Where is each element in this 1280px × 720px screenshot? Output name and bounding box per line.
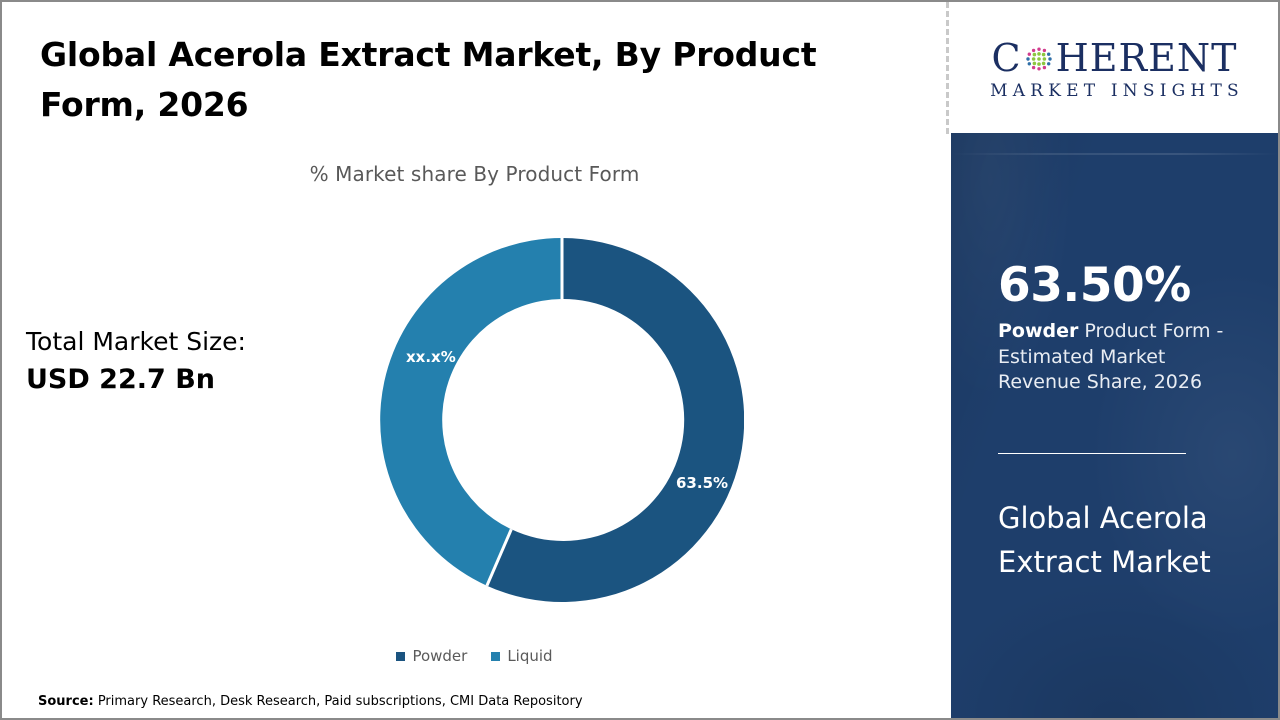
logo-letter-c: C (992, 39, 1022, 77)
logo: C (985, 39, 1244, 100)
page-title: Global Acerola Extract Market, By Produc… (40, 30, 905, 130)
legend-swatch-powder-icon (396, 652, 405, 661)
left-content-area: Global Acerola Extract Market, By Produc… (2, 2, 947, 718)
source-text: Primary Research, Desk Research, Paid su… (94, 694, 583, 709)
donut-slice-liquid[interactable] (380, 238, 562, 586)
panel-report-name: Global Acerola Extract Market (998, 496, 1260, 584)
highlight-stat-segment-name: Powder (998, 320, 1078, 342)
logo-subtitle: MARKET INSIGHTS (985, 83, 1244, 100)
legend-swatch-liquid-icon (491, 652, 500, 661)
total-market-size-label: Total Market Size: (26, 324, 356, 360)
highlight-stat-block: 63.50% Powder Product Form - Estimated M… (998, 261, 1248, 395)
logo-wordmark: C (985, 39, 1244, 77)
legend-item-liquid[interactable]: Liquid (491, 647, 552, 665)
infographic-canvas: Global Acerola Extract Market, By Produc… (0, 0, 1280, 720)
highlight-stat-value: 63.50% (998, 261, 1248, 310)
vertical-dashed-divider (946, 2, 949, 134)
source-label: Source: (38, 694, 94, 709)
donut-chart: xx.x% 63.5% (380, 238, 744, 602)
donut-label-powder: 63.5% (676, 474, 728, 492)
donut-label-liquid: xx.x% (406, 348, 456, 366)
panel-report-name-line2: Extract Market (998, 540, 1260, 584)
dotted-globe-icon (1023, 43, 1055, 75)
panel-horizontal-rule (998, 453, 1186, 454)
legend-item-powder[interactable]: Powder (396, 647, 467, 665)
total-market-size-value: USD 22.7 Bn (26, 360, 356, 399)
legend-label-powder: Powder (412, 647, 467, 665)
highlight-stat-description: Powder Product Form - Estimated Market R… (998, 319, 1248, 395)
panel-report-name-line1: Global Acerola (998, 496, 1260, 540)
source-line: Source: Primary Research, Desk Research,… (38, 694, 583, 709)
right-panel: C (951, 2, 1278, 718)
legend-label-liquid: Liquid (507, 647, 552, 665)
logo-word-herent: HERENT (1056, 39, 1238, 77)
logo-container[interactable]: C (951, 2, 1278, 133)
total-market-size-block: Total Market Size: USD 22.7 Bn (26, 324, 356, 399)
chart-legend: Powder Liquid (2, 647, 947, 665)
chart-subtitle: % Market share By Product Form (2, 162, 947, 186)
donut-chart-svg (380, 238, 744, 602)
stat-panel: 63.50% Powder Product Form - Estimated M… (951, 133, 1278, 718)
